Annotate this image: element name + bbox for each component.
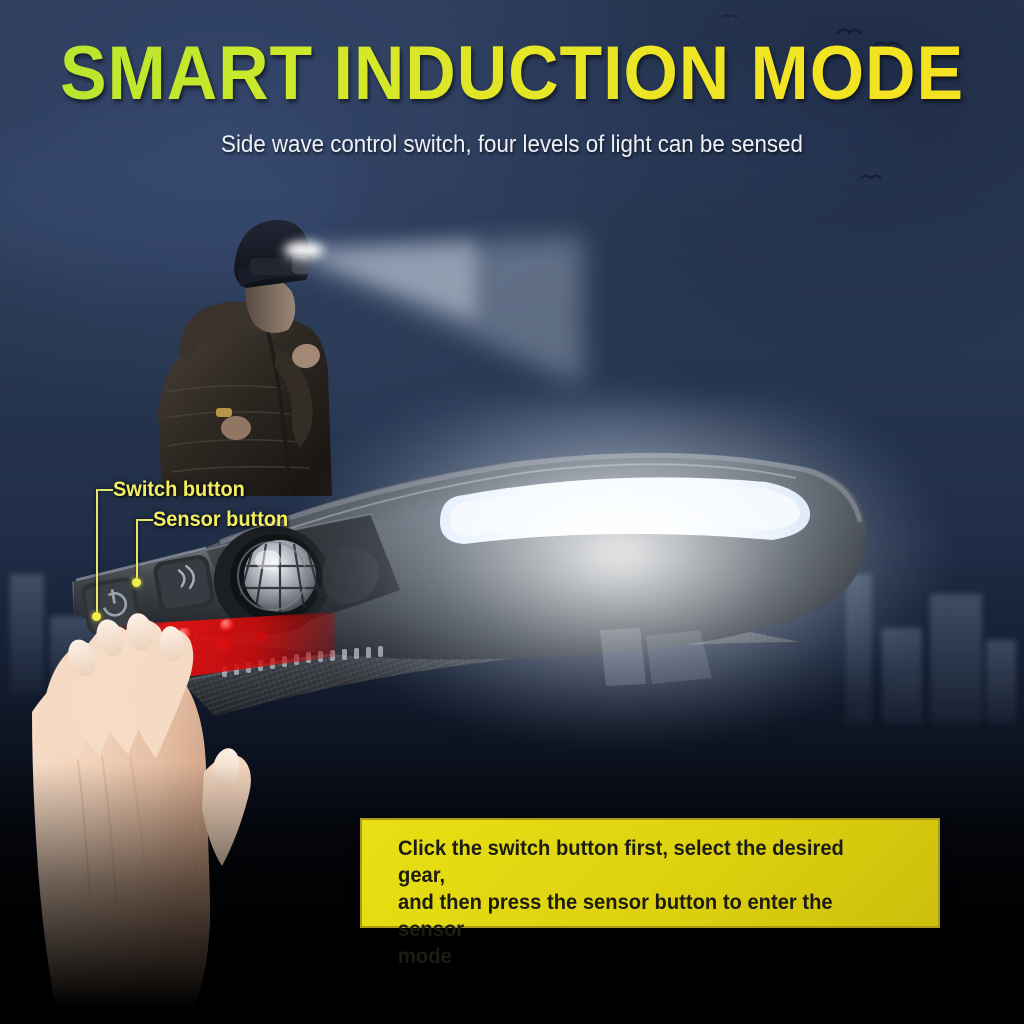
- page-title: SMART INDUCTION MODE: [41, 36, 983, 112]
- instruction-line-2: and then press the sensor button to ente…: [398, 890, 893, 944]
- instruction-line-3: mode: [398, 944, 893, 971]
- page-subtitle: Side wave control switch, four levels of…: [36, 131, 988, 159]
- callout-leader-line-switch: [96, 489, 113, 491]
- callout-leader-line-sensor-vertical: [136, 519, 138, 581]
- callout-label-switch-button: Switch button: [113, 478, 245, 502]
- callout-label-sensor-button: Sensor button: [153, 508, 288, 532]
- bird-icon: [860, 172, 882, 181]
- building-silhouette: [930, 594, 982, 724]
- callout-leader-line-sensor: [136, 519, 153, 521]
- building-silhouette: [986, 640, 1016, 724]
- instruction-line-1: Click the switch button first, select th…: [398, 836, 893, 890]
- waving-hand-photo: [0, 600, 320, 1024]
- instruction-note-box: Click the switch button first, select th…: [360, 818, 940, 928]
- bird-icon: [720, 12, 738, 20]
- headlamp-hotspot: [284, 242, 324, 258]
- callout-leader-line-switch-vertical: [96, 489, 98, 615]
- product-marketing-image: Switch button Sensor button: [0, 0, 1024, 1024]
- callout-endpoint-sensor: [132, 578, 141, 587]
